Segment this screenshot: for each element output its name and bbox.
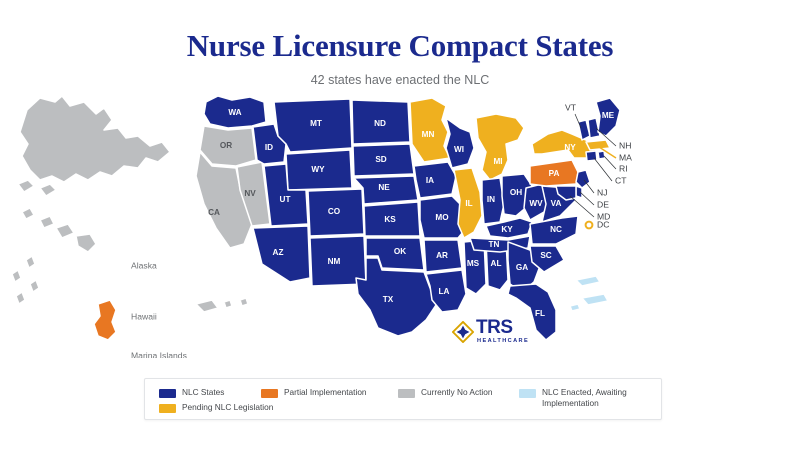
legend-label-pending-legislation: Pending NLC Legislation [182, 402, 273, 413]
state-label-UT: UT [280, 195, 291, 204]
legend-swatch-pending-legislation [159, 404, 176, 413]
state-label-LA: LA [439, 287, 450, 296]
state-MI[interactable] [476, 114, 524, 180]
state-label-MO: MO [435, 213, 449, 222]
state-label-AR: AR [436, 251, 448, 260]
state-label-OH: OH [510, 188, 522, 197]
state-label-KS: KS [384, 215, 396, 224]
territory-guam[interactable] [94, 300, 116, 340]
state-label-SC: SC [540, 251, 551, 260]
compass-diamond-icon [452, 321, 474, 343]
callout-label-NH: NH [619, 140, 631, 150]
marina-islands-shape [12, 256, 39, 304]
state-label-OR: OR [220, 141, 232, 150]
page-subtitle: 42 states have enacted the NLC [0, 73, 800, 87]
legend-item-partial-implementation[interactable]: Partial Implementation [261, 387, 367, 398]
state-label-AL: AL [491, 259, 502, 268]
legend-item-awaiting-implementation[interactable]: NLC Enacted, Awaiting Implementation [519, 387, 655, 408]
page-title: Nurse Licensure Compact States [0, 28, 800, 64]
legend-label-nlc-states: NLC States [182, 387, 224, 398]
state-label-SD: SD [375, 155, 386, 164]
state-label-AZ: AZ [273, 248, 284, 257]
state-RI[interactable] [598, 151, 605, 159]
callout-label-DE: DE [597, 199, 609, 209]
state-label-MT: MT [310, 119, 322, 128]
state-label-MI: MI [493, 157, 502, 166]
callout-label-CT: CT [615, 175, 627, 185]
state-label-OK: OK [394, 247, 406, 256]
legend-swatch-partial-implementation [261, 389, 278, 398]
state-label-FL: FL [535, 309, 545, 318]
callout-label-RI: RI [619, 163, 628, 173]
legend-swatch-nlc-states [159, 389, 176, 398]
state-label-TX: TX [383, 295, 394, 304]
callout-line-RI [604, 156, 616, 169]
state-label-NY: NY [564, 143, 576, 152]
state-label-NC: NC [550, 225, 562, 234]
alaska-shape [20, 96, 170, 182]
state-label-CA: CA [208, 208, 220, 217]
legend-swatch-currently-no-action [398, 389, 415, 398]
alaska-aleutians [18, 180, 56, 196]
us-map: Alaska Hawaii Marina Islands (MP) Guam A… [0, 88, 800, 358]
state-label-WA: WA [228, 108, 241, 117]
callout-label-VT: VT [565, 102, 577, 112]
callout-label-NJ: NJ [597, 187, 608, 197]
state-DE[interactable] [576, 186, 582, 198]
territory-alaska[interactable] [18, 96, 170, 196]
legend-label-awaiting-implementation: NLC Enacted, Awaiting Implementation [542, 387, 655, 408]
legend-swatch-awaiting-implementation [519, 389, 536, 398]
state-MA[interactable] [586, 140, 610, 150]
hawaii-shape [22, 208, 96, 252]
callout-label-DC: DC [597, 219, 609, 229]
territory-hawaii[interactable] [22, 208, 96, 252]
state-label-NV: NV [244, 189, 256, 198]
state-label-VA: VA [551, 199, 562, 208]
territory-marina-islands[interactable] [12, 256, 39, 304]
state-label-ND: ND [374, 119, 386, 128]
callout-line-MD [570, 196, 594, 217]
contiguous-states [196, 96, 620, 340]
legend-label-partial-implementation: Partial Implementation [284, 387, 367, 398]
state-label-IA: IA [426, 176, 434, 185]
state-DC[interactable] [586, 222, 593, 229]
state-label-IN: IN [487, 195, 495, 204]
state-label-NM: NM [328, 257, 341, 266]
state-label-PA: PA [549, 169, 560, 178]
territory-label-hawaii: Hawaii [131, 311, 157, 321]
state-label-NE: NE [378, 183, 390, 192]
legend-item-pending-legislation[interactable]: Pending NLC Legislation [159, 402, 273, 413]
virgin-islands-shape [570, 276, 608, 311]
legend-item-nlc-states[interactable]: NLC States [159, 387, 224, 398]
state-label-WV: WV [529, 199, 543, 208]
legend-label-currently-no-action: Currently No Action [421, 387, 492, 398]
state-label-ID: ID [265, 143, 273, 152]
territory-virgin-islands[interactable] [570, 276, 608, 311]
state-WI[interactable] [446, 118, 474, 168]
state-label-IL: IL [465, 199, 472, 208]
map-legend: NLC States Partial Implementation Curren… [144, 378, 662, 420]
state-IA[interactable] [414, 162, 456, 198]
territory-american-samoa[interactable] [196, 298, 248, 312]
state-label-ME: ME [602, 111, 615, 120]
trs-healthcare-logo[interactable]: TRS HEALTHCARE [452, 318, 542, 348]
american-samoa-shape [196, 298, 248, 312]
territory-label-alaska: Alaska [131, 260, 157, 270]
state-label-CO: CO [328, 207, 341, 216]
state-label-WI: WI [454, 145, 464, 154]
state-label-TN: TN [489, 240, 500, 249]
logo-wordmark: TRS [476, 318, 513, 337]
state-label-GA: GA [516, 263, 528, 272]
callout-label-MA: MA [619, 152, 632, 162]
state-label-WY: WY [311, 165, 325, 174]
state-label-MS: MS [467, 259, 480, 268]
infographic-canvas: Nurse Licensure Compact States 42 states… [0, 0, 800, 449]
state-label-KY: KY [501, 225, 513, 234]
territory-label-marina-islands: Marina Islands [131, 350, 187, 358]
state-label-MN: MN [422, 130, 435, 139]
legend-item-currently-no-action[interactable]: Currently No Action [398, 387, 492, 398]
guam-shape [94, 300, 116, 340]
logo-tagline: HEALTHCARE [477, 338, 529, 344]
